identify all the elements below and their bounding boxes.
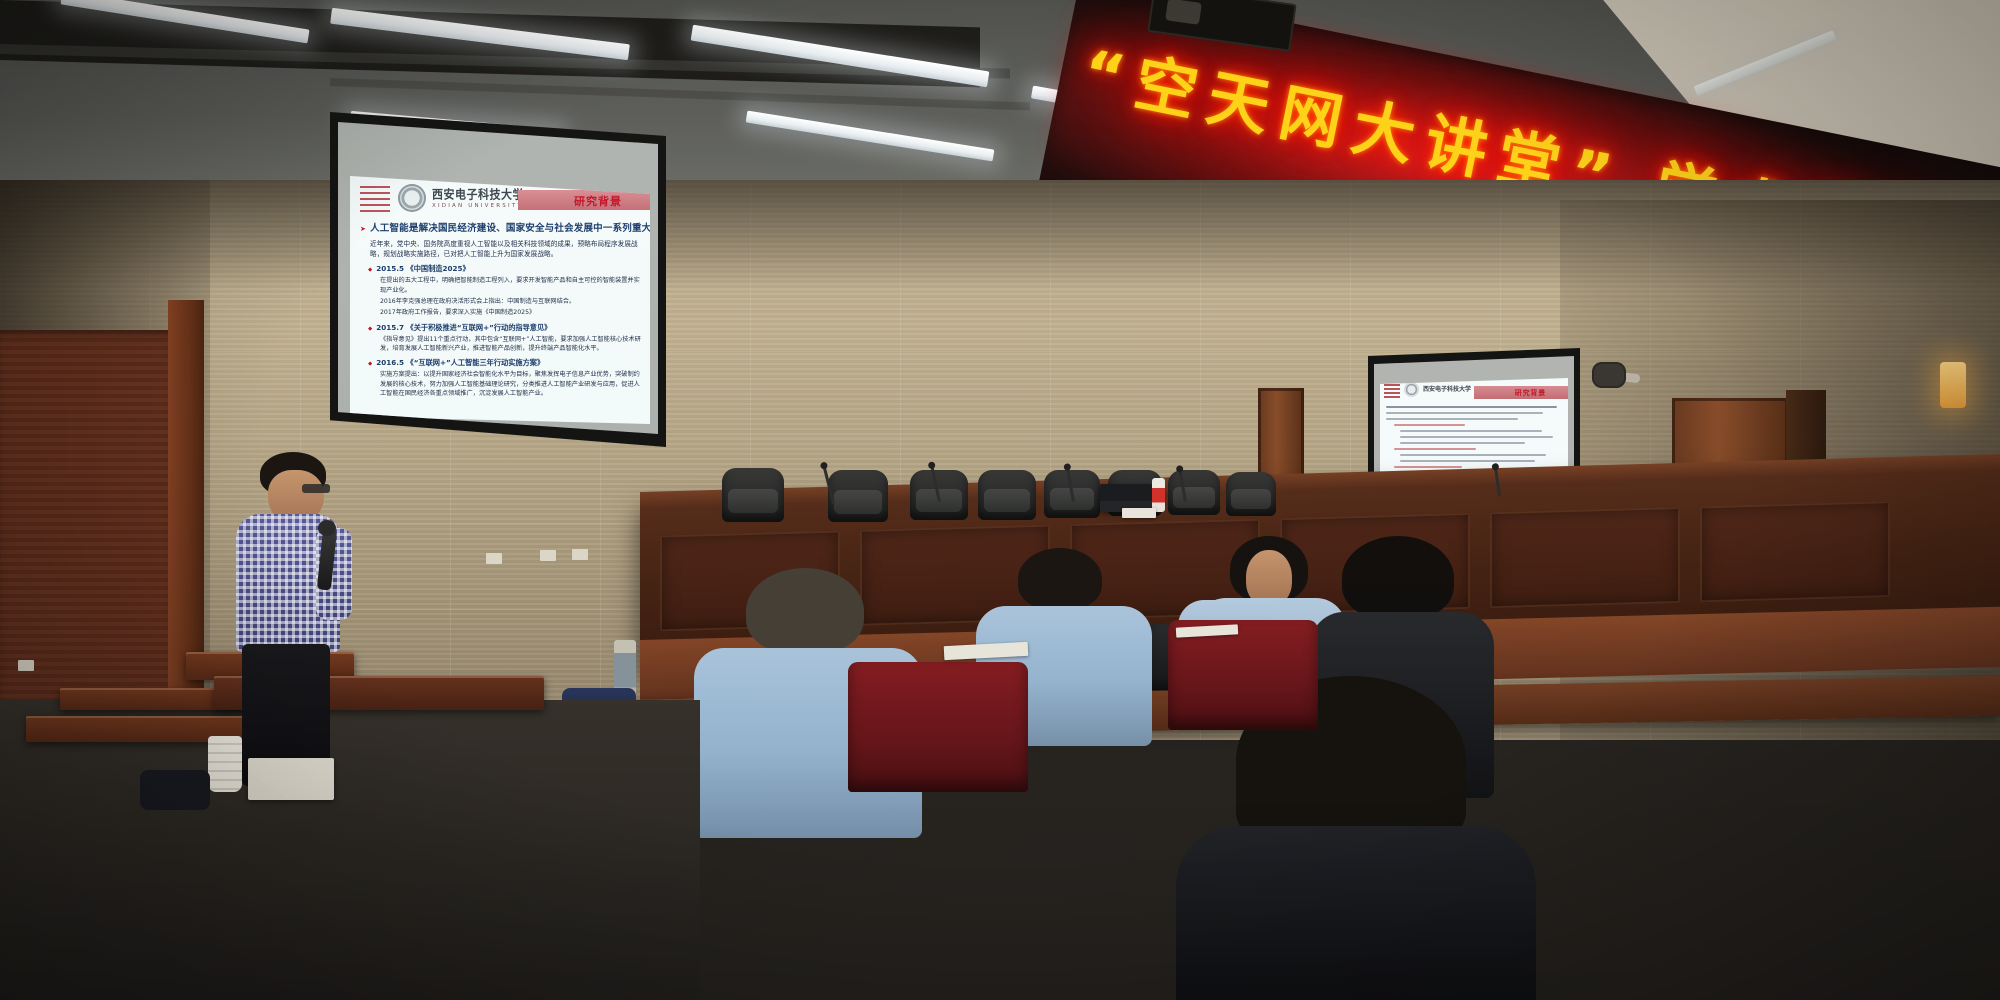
slide-body: 人工智能是解决国民经济建设、国家安全与社会发展中一系列重大需求问题的开性需求 近… xyxy=(360,220,644,400)
xidian-logo-icon xyxy=(398,184,426,212)
slide-subline: 实施方案提出：以提升国家经济社会智能化水平为目标，聚焦发挥电子信息产业优势，突破… xyxy=(380,370,644,398)
lecture-hall-photo: “空天网大讲堂” 学术讲座 xyxy=(0,0,2000,1000)
slide-subline: 在提出的五大工程中，明确把智能制造工程列入，要求开发智能产品和自主可控的智能装置… xyxy=(380,276,644,295)
bag xyxy=(140,770,210,810)
wall-lamp-shade xyxy=(1592,362,1626,388)
power-outlet[interactable] xyxy=(572,549,588,560)
laptop-screen xyxy=(1100,484,1152,501)
slide-item-marker: 2015.7 《关于积极推进“互联网+”行动的指导意见》 xyxy=(368,323,644,333)
xidian-logo-icon xyxy=(1404,382,1419,397)
slide-title: 研究背景 xyxy=(574,193,622,209)
slide-subline: 2016年李克强总理在政府决活形式会上指出：中国制造与互联网结合。 xyxy=(380,297,644,306)
microphone-head xyxy=(318,520,336,536)
screen-surface: 西安电子科技大学 XIDIAN UNIVERSITY 研究背景 人工智能是解决国… xyxy=(338,122,658,434)
audience-seat xyxy=(848,662,1028,792)
slide-subline: 《指导意见》提出11个重点行动，其中包含“互联网+”人工智能，要求加强人工智能核… xyxy=(380,335,644,354)
water-bottle xyxy=(1152,478,1165,512)
slide2-title: 研究背景 xyxy=(1515,388,1546,398)
slide2-decor-bars xyxy=(1384,384,1400,400)
slide-subline: 2017年政府工作报告，要求深入实施《中国制造2025》 xyxy=(380,308,644,317)
floor xyxy=(0,700,700,1000)
slide-item-marker: 2016.5 《“互联网+”人工智能三年行动实施方案》 xyxy=(368,358,644,368)
slide-paragraph: 近年来，党中央、国务院高度重视人工智能以及相关科技领域的成果，预略布局程序发展战… xyxy=(370,239,644,259)
item-date: 2015.7 xyxy=(376,323,404,332)
projector-lens xyxy=(1165,0,1202,25)
hair xyxy=(1018,548,1102,610)
power-outlet[interactable] xyxy=(18,660,34,671)
university-name-cn: 西安电子科技大学 xyxy=(1423,384,1471,393)
item-heading: 《“互联网+”人工智能三年行动实施方案》 xyxy=(407,358,545,367)
main-projection-screen: 西安电子科技大学 XIDIAN UNIVERSITY 研究背景 人工智能是解决国… xyxy=(330,112,666,447)
slide-decor-bars xyxy=(360,186,390,212)
wood-wall-panel-left xyxy=(0,330,185,750)
paper-cup-stack xyxy=(208,736,242,792)
hair xyxy=(746,568,864,654)
hair xyxy=(1342,536,1454,620)
slide-item-marker: 2015.5 《中国制造2025》 xyxy=(368,264,644,274)
white-box xyxy=(248,758,334,800)
power-outlet[interactable] xyxy=(486,553,502,564)
power-outlet[interactable] xyxy=(540,550,556,561)
wall-lamp xyxy=(1940,362,1966,408)
torso xyxy=(1176,826,1536,1000)
item-date: 2015.5 xyxy=(376,264,404,273)
glasses-icon xyxy=(302,484,330,493)
podium-chair xyxy=(978,470,1036,520)
name-card xyxy=(1122,508,1156,518)
university-name-en: XIDIAN UNIVERSITY xyxy=(432,203,523,209)
item-heading: 《关于积极推进“互联网+”行动的指导意见》 xyxy=(407,323,552,332)
podium-chair xyxy=(1168,470,1220,515)
podium-chair xyxy=(1226,472,1276,516)
slide-bullet-level1: 人工智能是解决国民经济建设、国家安全与社会发展中一系列重大需求问题的开性需求 xyxy=(360,220,644,234)
podium-chair xyxy=(828,470,888,522)
item-date: 2016.5 xyxy=(376,358,404,367)
slide-main: 西安电子科技大学 XIDIAN UNIVERSITY 研究背景 人工智能是解决国… xyxy=(350,176,650,424)
item-heading: 《中国制造2025》 xyxy=(407,264,470,273)
university-name-cn: 西安电子科技大学 xyxy=(432,185,524,203)
podium-chair xyxy=(722,468,784,522)
